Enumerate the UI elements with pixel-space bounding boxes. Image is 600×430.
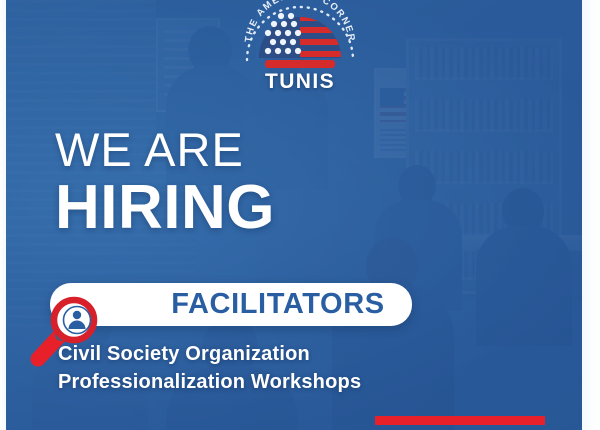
hiring-poster: THE AMERICAN CORNER TUNIS WE ARE HIRING …: [0, 0, 600, 430]
american-corner-seal: THE AMERICAN CORNER TUNIS: [237, 0, 363, 106]
bottom-accent-bar: [375, 416, 545, 425]
seal-city-label: TUNIS: [237, 70, 363, 94]
headline-line-hiring: HIRING: [55, 175, 275, 242]
magnifier-person-icon: [16, 289, 108, 367]
position-badge-label: FACILITATORS: [160, 283, 396, 326]
headline-block: WE ARE HIRING: [55, 126, 275, 242]
right-page-margin: [582, 0, 600, 430]
left-page-margin: [0, 0, 6, 430]
subtitle-line-2: Professionalization Workshops: [58, 369, 361, 397]
headline-line-we-are: WE ARE: [55, 126, 275, 173]
